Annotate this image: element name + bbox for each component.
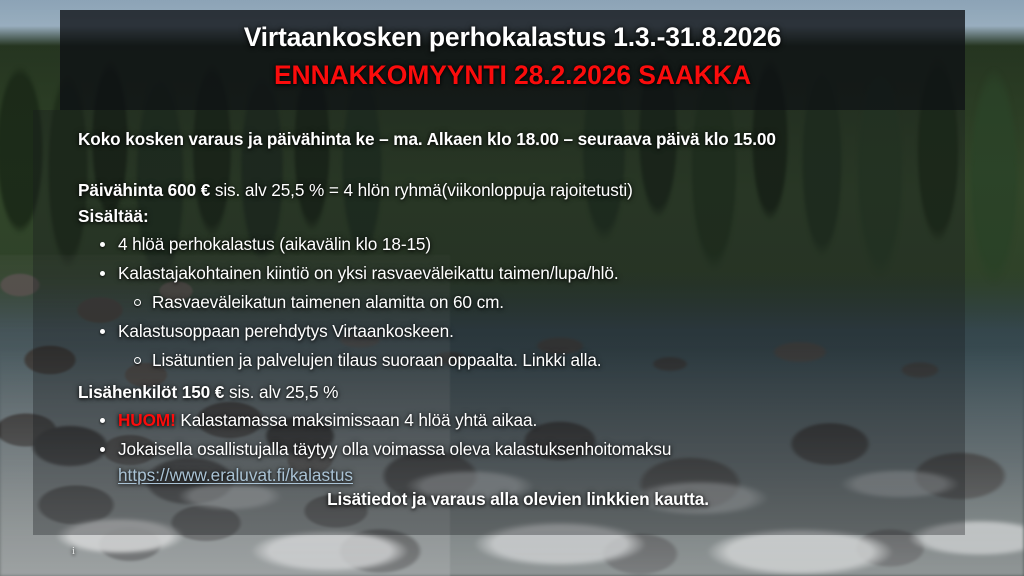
list-item: Kalastajakohtainen kiintiö on yksi rasva…: [78, 261, 958, 286]
list-item-note: HUOM! Kalastamassa maksimissaan 4 hlöä y…: [78, 408, 958, 433]
slide-content: Virtaankosken perhokalastus 1.3.-31.8.20…: [0, 0, 1024, 576]
presale-deadline-subtitle: ENNAKKOMYYNTI 28.2.2026 SAAKKA: [60, 58, 965, 94]
includes-list: 4 hlöä perhokalastus (aikavälin klo 18-1…: [78, 232, 958, 373]
extra-person-price-line: Lisähenkilöt 150 € sis. alv 25,5 %: [78, 380, 958, 404]
vertical-spacer: [78, 151, 958, 178]
list-item: Kalastusoppaan perehdytys Virtaankoskeen…: [78, 319, 958, 344]
body-block: Koko kosken varaus ja päivähinta ke – ma…: [78, 128, 958, 488]
daily-price-line: Päivähinta 600 € sis. alv 25,5 % = 4 hlö…: [78, 178, 958, 202]
extra-person-price-detail: sis. alv 25,5 %: [229, 382, 338, 402]
permit-link-row[interactable]: https://www.eraluvat.fi/kalastus: [78, 463, 958, 488]
list-item: 4 hlöä perhokalastus (aikavälin klo 18-1…: [78, 232, 958, 257]
notes-list: HUOM! Kalastamassa maksimissaan 4 hlöä y…: [78, 408, 958, 462]
list-item: Lisätuntien ja palvelujen tilaus suoraan…: [78, 348, 958, 373]
list-item-permit: Jokaisella osallistujalla täytyy olla vo…: [78, 437, 958, 462]
extra-person-price-label: Lisähenkilöt 150 €: [78, 382, 229, 402]
page-title: Virtaankosken perhokalastus 1.3.-31.8.20…: [60, 20, 965, 54]
title-block: Virtaankosken perhokalastus 1.3.-31.8.20…: [60, 20, 965, 94]
list-item: Rasvaeväleikatun taimenen alamitta on 60…: [78, 290, 958, 315]
warning-text: Kalastamassa maksimissaan 4 hlöä yhtä ai…: [176, 410, 537, 430]
daily-price-detail: sis. alv 25,5 % = 4 hlön ryhmä(viikonlop…: [215, 180, 633, 200]
includes-label: Sisältää:: [78, 204, 958, 228]
warning-label: HUOM!: [118, 410, 176, 430]
booking-lead-line: Koko kosken varaus ja päivähinta ke – ma…: [78, 128, 958, 151]
footer-call-to-action: Lisätiedot ja varaus alla olevien linkki…: [78, 489, 958, 510]
daily-price-label: Päivähinta 600 €: [78, 180, 215, 200]
eraluvat-link[interactable]: https://www.eraluvat.fi/kalastus: [118, 465, 353, 485]
presentation-slide: Virtaankosken perhokalastus 1.3.-31.8.20…: [0, 0, 1024, 576]
corner-info-mark: i: [72, 545, 75, 557]
